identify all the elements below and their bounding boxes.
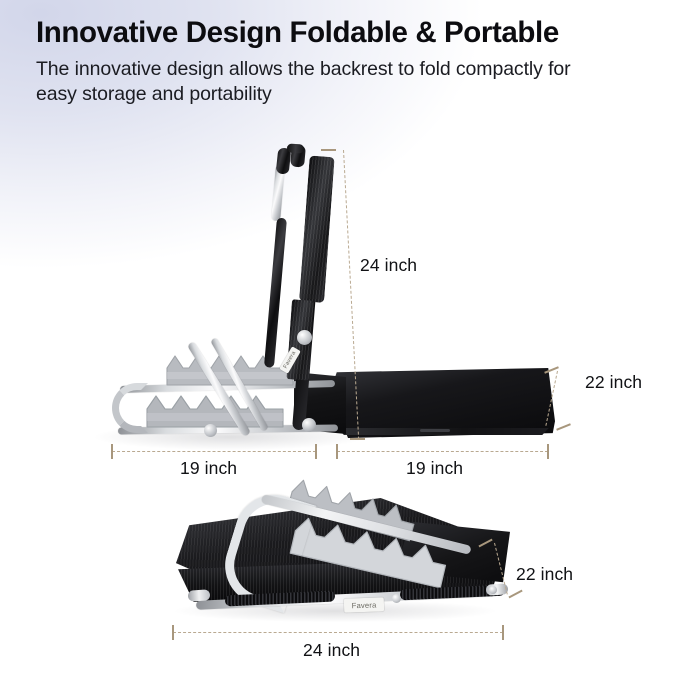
dimension-label-bottom-width: 24 inch <box>303 640 360 661</box>
folded-rivet-right <box>489 586 497 594</box>
folded-end-cap-left <box>188 589 211 602</box>
product-infographic: Innovative Design Foldable & Portable Th… <box>0 0 679 679</box>
brand-logo-lower: Favera <box>344 597 384 612</box>
folded-backrest-view: Favera <box>0 0 679 679</box>
folded-rivet-mid <box>392 594 401 603</box>
brand-name-lower: Favera <box>351 600 376 609</box>
dimension-label-bottom-depth: 22 inch <box>516 564 573 585</box>
